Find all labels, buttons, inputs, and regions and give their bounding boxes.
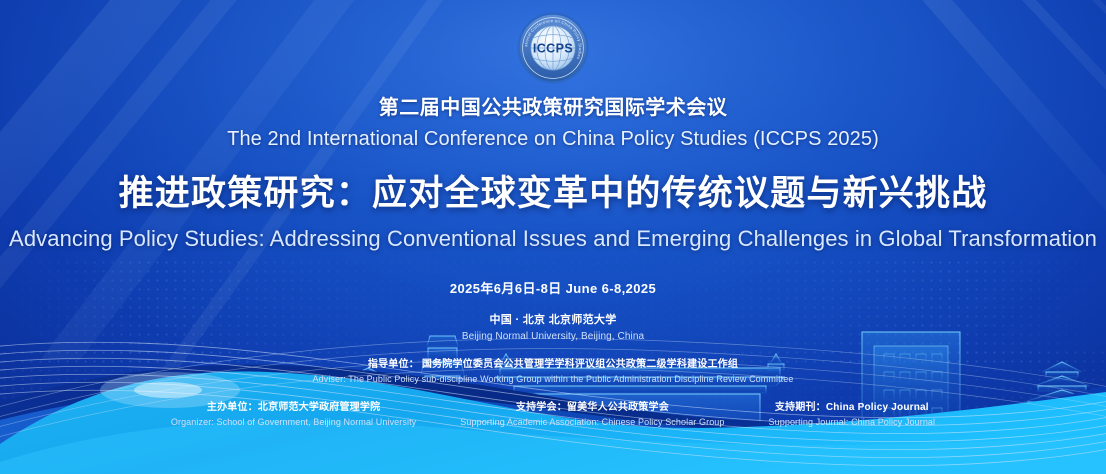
headline-cn: 推进政策研究：应对全球变革中的传统议题与新兴挑战 (119, 165, 988, 216)
adviser-cn: 指导单位： 国务院学位委员会公共管理学学科评议组公共政策二级学科建设工作组 (368, 355, 738, 370)
conference-title-en: The 2nd International Conference on Chin… (227, 128, 879, 151)
supporting-journal-cn: 支持期刊：China Policy Journal (775, 398, 929, 413)
supporting-association-en: Supporting Academic Association: Chinese… (460, 417, 724, 427)
organizer-en: Organizer: School of Government, Beijing… (171, 417, 416, 427)
conference-date: 2025年6月6日-8日 June 6-8,2025 (450, 278, 656, 297)
supporting-journal-en: Supporting Journal: China Policy Journal (769, 417, 936, 427)
banner-content: ICCPS International Conference on China … (0, 0, 1106, 474)
organizer-column: 主办单位：北京师范大学政府管理学院 Organizer: School of G… (171, 398, 416, 427)
venue-en: Beijing Normal University, Beijing, Chin… (462, 331, 644, 342)
supporting-association-cn: 支持学会：留美华人公共政策学会 (516, 398, 669, 413)
organization-row: 主办单位：北京师范大学政府管理学院 Organizer: School of G… (171, 398, 935, 427)
supporting-journal-column: 支持期刊：China Policy Journal Supporting Jou… (769, 398, 936, 427)
iccps-logo: ICCPS International Conference on China … (516, 11, 590, 85)
organizer-cn: 主办单位：北京师范大学政府管理学院 (207, 398, 380, 413)
conference-title-cn: 第二届中国公共政策研究国际学术会议 (379, 91, 728, 120)
adviser-en: Adviser: The Public Policy sub-disciplin… (313, 374, 794, 384)
conference-banner: ICCPS International Conference on China … (0, 0, 1106, 474)
iccps-emblem-icon: ICCPS International Conference on China … (516, 11, 590, 85)
svg-text:ICCPS: ICCPS (533, 41, 573, 55)
supporting-association-column: 支持学会：留美华人公共政策学会 Supporting Academic Asso… (460, 398, 724, 427)
headline-en: Advancing Policy Studies: Addressing Con… (9, 226, 1097, 252)
venue-cn: 中国 · 北京 北京师范大学 (489, 311, 616, 327)
